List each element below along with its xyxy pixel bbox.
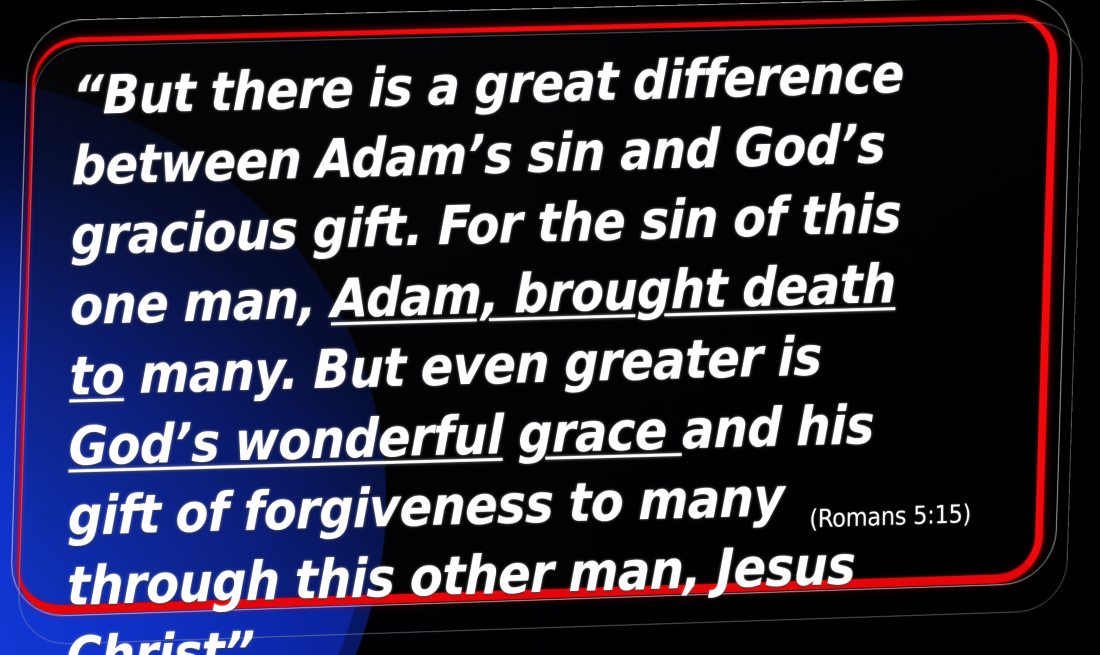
- scripture-quote-text: “But there is a great difference between…: [66, 39, 929, 655]
- quote-run: [503, 404, 519, 465]
- quote-run: many. But even greater is: [124, 326, 822, 406]
- quote-text-layer: “But there is a great difference between…: [23, 0, 1039, 620]
- close-quote-mark: ”.: [224, 621, 273, 655]
- quote-emphasis-run: God’s wonderful: [68, 405, 503, 478]
- open-quote-mark: “: [72, 65, 103, 127]
- scripture-reference: (Romans 5:15): [809, 499, 971, 533]
- quote-emphasis-run: grace: [518, 400, 682, 465]
- slide-canvas: “But there is a great difference between…: [0, 0, 1100, 655]
